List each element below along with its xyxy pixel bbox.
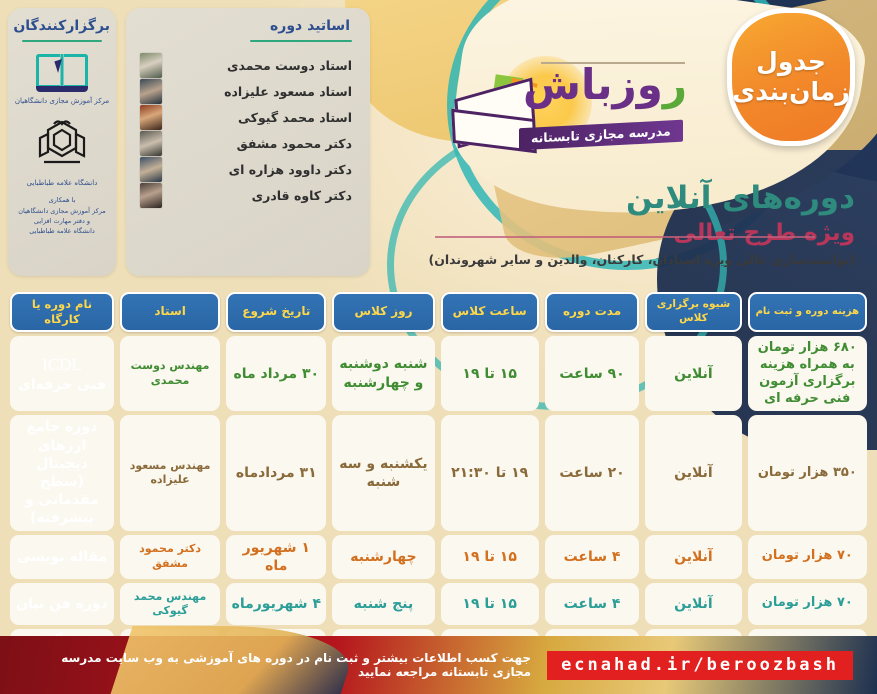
teacher-name: استاد محمد گیوکی — [170, 110, 356, 125]
brand-word-purple: وزباش — [523, 60, 663, 109]
course-duration: ۲۰ ساعت — [545, 415, 639, 530]
column-header-duration: مدت دوره — [545, 292, 639, 332]
course-price: ۷۰ هزار تومان — [748, 583, 867, 625]
coop-line-2: مرکز آموزش مجازی دانشگاهیان — [14, 206, 110, 216]
badge-line-1: جدول — [732, 47, 850, 78]
avatar — [140, 79, 162, 104]
course-date: ۳۱ مردادماه — [226, 415, 326, 530]
brand-wordmark: روزباش — [523, 64, 687, 106]
column-header-mode: شیوه برگزاری کلاس — [645, 292, 741, 332]
course-time: ۱۹ تا ۲۱:۳۰ — [441, 415, 539, 530]
badge-label: جدول زمان‌بندی — [732, 47, 850, 108]
divider — [250, 40, 352, 42]
page-title: دوره‌های آنلاین ویژه طرح تعالی (توانمندس… — [295, 180, 855, 267]
table-row: ICDL فنی حرفه‌ای مهندس دوست محمدی ۳۰ مرد… — [10, 336, 867, 412]
table-row: مقاله نویسی دکتر محمود مشفق ۱ شهریور ماه… — [10, 535, 867, 579]
avatar — [140, 53, 162, 78]
course-time: ۱۵ تا ۱۹ — [441, 336, 539, 412]
brand-word-green: ر — [663, 60, 687, 109]
column-header-name: نام دوره یا کارگاه — [10, 292, 114, 332]
course-mode: آنلاین — [645, 336, 741, 412]
course-date: ۳۰ مرداد ماه — [226, 336, 326, 412]
avatar — [140, 157, 162, 182]
poster-root: برگزارکنندگان مرکز آموزش مجازی دانشگاهیا… — [0, 0, 877, 694]
table-row: دوره فن بیان مهندس محمد گیوکی ۴ شهریورما… — [10, 583, 867, 625]
website-url[interactable]: ecnahad.ir/beroozbash — [547, 651, 853, 680]
course-day: پنج شنبه — [332, 583, 434, 625]
title-subtitle: (توانمندسازی عالی ویژه استادان، کارکنان،… — [295, 252, 855, 267]
title-line-2: ویژه طرح تعالی — [295, 220, 855, 246]
table-header-row: نام دوره یا کارگاه استاد تاریخ شروع روز … — [10, 292, 867, 332]
organizers-title: برگزارکنندگان — [14, 18, 110, 34]
course-mode: آنلاین — [645, 415, 741, 530]
course-teacher: مهندس دوست محمدی — [120, 336, 220, 412]
course-name: دوره فن بیان — [10, 583, 114, 625]
teacher-name: استاد دوست محمدی — [170, 58, 356, 73]
teacher-name: استاد مسعود علیزاده — [170, 84, 356, 99]
organizer-logo-2-caption: دانشگاه علامه طباطبایی — [14, 178, 110, 188]
cooperation-note: با همکاری مرکز آموزش مجازی دانشگاهیان و … — [14, 195, 110, 237]
course-date: ۱ شهریور ماه — [226, 535, 326, 579]
course-duration: ۴ ساعت — [545, 535, 639, 579]
avatar — [140, 105, 162, 130]
column-header-date: تاریخ شروع — [226, 292, 326, 332]
column-header-time: ساعت کلاس — [441, 292, 539, 332]
column-header-teacher: استاد — [120, 292, 220, 332]
course-teacher: مهندس محمد گیوکی — [120, 583, 220, 625]
course-teacher: دکتر محمود مشفق — [120, 535, 220, 579]
course-price: ۳۵۰ هزار تومان — [748, 415, 867, 530]
course-time: ۱۵ تا ۱۹ — [441, 583, 539, 625]
course-day: چهارشنبه — [332, 535, 434, 579]
footer-bar: جهت کسب اطلاعات بیشتر و ثبت نام در دوره … — [0, 636, 877, 694]
footer-note: جهت کسب اطلاعات بیشتر و ثبت نام در دوره … — [24, 651, 531, 679]
coop-line-3: و دفتر مهارت افزایی — [14, 216, 110, 226]
avatar — [140, 183, 162, 208]
list-item: استاد مسعود علیزاده — [140, 78, 356, 104]
course-name: ICDL فنی حرفه‌ای — [10, 336, 114, 412]
university-emblem-icon — [32, 118, 92, 174]
course-name: مقاله نویسی — [10, 535, 114, 579]
course-day: یکشنبه و سه شنبه — [332, 415, 434, 530]
list-item: استاد محمد گیوکی — [140, 104, 356, 130]
badge-line-2: زمان‌بندی — [732, 77, 850, 108]
book-cursor-icon — [36, 54, 88, 92]
title-line-1: دوره‌های آنلاین — [295, 180, 855, 216]
course-mode: آنلاین — [645, 583, 741, 625]
teachers-title: اساتید دوره — [140, 18, 356, 34]
coop-line-4: دانشگاه علامه طباطبایی — [14, 226, 110, 236]
list-item: دکتر داوود هزاره ای — [140, 156, 356, 182]
organizers-panel: برگزارکنندگان مرکز آموزش مجازی دانشگاهیا… — [8, 8, 116, 276]
course-teacher: مهندس مسعود علیزاده — [120, 415, 220, 530]
course-price: ۷۰ هزار تومان — [748, 535, 867, 579]
teacher-name: دکتر داوود هزاره ای — [170, 162, 356, 177]
course-mode: آنلاین — [645, 535, 741, 579]
course-name-prefix: ICDL — [42, 355, 82, 374]
teacher-name: دکتر محمود مشفق — [170, 136, 356, 151]
course-price: ۶۸۰ هزار تومان به همراه هزینه برگزاری آز… — [748, 336, 867, 412]
course-time: ۱۵ تا ۱۹ — [441, 535, 539, 579]
footer-content: جهت کسب اطلاعات بیشتر و ثبت نام در دوره … — [0, 636, 877, 694]
course-duration: ۹۰ ساعت — [545, 336, 639, 412]
course-day: شنبه دوشنبه و چهارشنبه — [332, 336, 434, 412]
divider — [22, 40, 102, 42]
organizer-logo-1-caption: مرکز آموزش مجازی دانشگاهیان — [14, 96, 110, 106]
table-row: دوره جامع ارزهای دیجیتال (سطح مقدماتی و … — [10, 415, 867, 530]
brand-logo: روزباش مدرسه مجازی تابستانه — [442, 52, 687, 172]
coop-line-1: با همکاری — [14, 195, 110, 205]
avatar — [140, 131, 162, 156]
course-duration: ۴ ساعت — [545, 583, 639, 625]
course-name: دوره جامع ارزهای دیجیتال (سطح مقدماتی و … — [10, 415, 114, 530]
column-header-price: هزینه دوره و ثبت نام — [748, 292, 867, 332]
list-item: دکتر محمود مشفق — [140, 130, 356, 156]
list-item: استاد دوست محمدی — [140, 52, 356, 78]
course-name-text: فنی حرفه‌ای — [18, 377, 106, 393]
column-header-day: روز کلاس — [332, 292, 434, 332]
course-date: ۴ شهریورماه — [226, 583, 326, 625]
schedule-badge: جدول زمان‌بندی — [727, 8, 855, 146]
